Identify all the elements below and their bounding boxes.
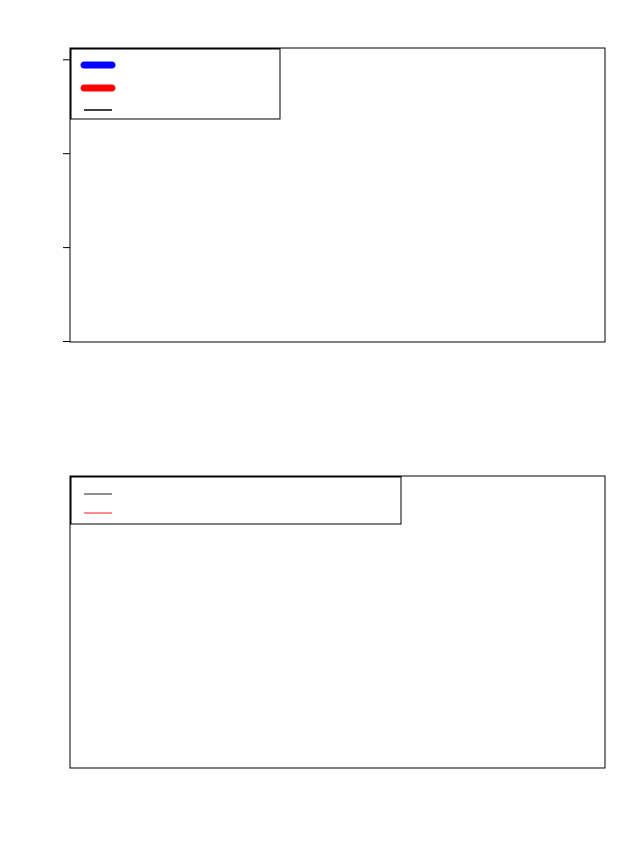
- bottom-legend: [71, 477, 401, 524]
- figure-background: [0, 0, 640, 850]
- top-legend: [71, 49, 280, 119]
- precipitation-figure: [0, 0, 640, 850]
- figure-canvas: [0, 0, 640, 850]
